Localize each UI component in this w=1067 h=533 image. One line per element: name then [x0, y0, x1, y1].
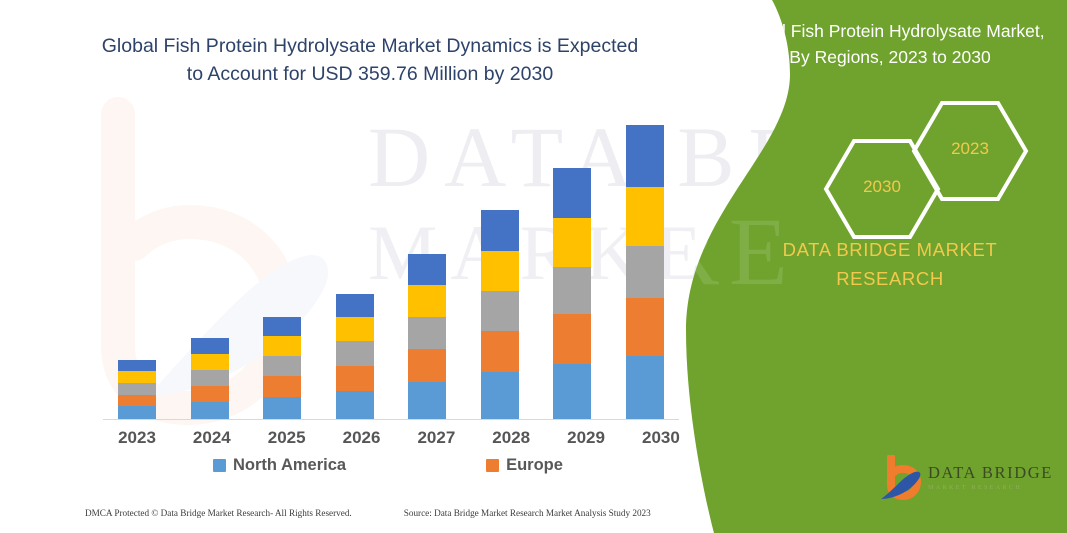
footer-source: Source: Data Bridge Market Research Mark…: [404, 508, 651, 518]
bar-segment: [481, 331, 519, 373]
bar-segment: [408, 254, 446, 285]
hexagon-2030-label: 2030: [820, 177, 944, 197]
legend-label: North America: [233, 456, 346, 475]
databridge-logo-subtitle: MARKET RESEARCH: [928, 484, 1022, 491]
bar-segment: [263, 317, 301, 336]
bar-segment: [118, 406, 156, 419]
bar-column: [538, 110, 606, 419]
bar-segment: [408, 349, 446, 382]
bar-segment: [263, 397, 301, 419]
bar-segment: [336, 366, 374, 392]
bar-segment: [408, 317, 446, 349]
databridge-logo-icon: [878, 455, 924, 503]
bar-segment: [191, 386, 229, 402]
page-title: Global Fish Protein Hydrolysate Market D…: [60, 32, 680, 89]
chart-x-axis-labels: 20232024202520262027202820292030: [103, 428, 695, 448]
stacked-bar: [191, 338, 229, 419]
stacked-bar: [626, 125, 664, 419]
footer-copyright: DMCA Protected © Data Bridge Market Rese…: [85, 508, 352, 518]
green-panel-brand: DATA BRIDGE MARKET RESEARCH: [722, 236, 1058, 293]
bar-segment: [191, 338, 229, 354]
bar-segment: [118, 360, 156, 371]
bar-segment: [626, 356, 664, 419]
x-axis-label: 2030: [627, 428, 695, 448]
stacked-bar: [481, 210, 519, 419]
x-axis-label: 2025: [253, 428, 321, 448]
green-side-panel: RE Global Fish Protein Hydrolysate Marke…: [660, 0, 1067, 533]
bar-column: [176, 110, 244, 419]
chart-bars-container: [103, 110, 679, 419]
chart-x-axis-line: [103, 419, 679, 420]
x-axis-label: 2029: [552, 428, 620, 448]
bar-segment: [408, 285, 446, 317]
bar-column: [393, 110, 461, 419]
databridge-logo: DATA BRIDGE MARKET RESEARCH: [878, 455, 1058, 511]
page-title-line1: Global Fish Protein Hydrolysate Market D…: [60, 32, 680, 60]
footer: DMCA Protected © Data Bridge Market Rese…: [85, 508, 705, 518]
bar-segment: [118, 371, 156, 383]
bar-segment: [481, 291, 519, 330]
bar-segment: [263, 376, 301, 396]
bar-segment: [553, 168, 591, 218]
bar-segment: [191, 354, 229, 370]
bar-segment: [336, 391, 374, 419]
bar-segment: [481, 251, 519, 291]
stacked-bar: [553, 168, 591, 419]
bar-segment: [118, 395, 156, 407]
green-panel-brand-line2: RESEARCH: [722, 265, 1058, 294]
bar-segment: [408, 382, 446, 419]
infographic-root: DATA BRIDGE MARKET RESEARCH Global Fish …: [0, 0, 1067, 533]
bar-segment: [336, 317, 374, 342]
green-panel-title-line1: Global Fish Protein Hydrolysate Market,: [722, 18, 1058, 44]
bar-segment: [553, 267, 591, 314]
bar-segment: [263, 356, 301, 376]
bar-segment: [263, 336, 301, 356]
bar-segment: [481, 210, 519, 250]
bar-segment: [626, 246, 664, 297]
x-axis-label: 2026: [328, 428, 396, 448]
bar-segment: [336, 294, 374, 316]
stacked-bar: [408, 254, 446, 419]
bar-segment: [336, 341, 374, 366]
stacked-bar: [263, 317, 301, 419]
bar-segment: [553, 218, 591, 267]
bar-column: [321, 110, 389, 419]
bar-column: [248, 110, 316, 419]
bar-segment: [191, 370, 229, 386]
stacked-bar: [118, 360, 156, 419]
x-axis-label: 2028: [477, 428, 545, 448]
legend-item[interactable]: Europe: [486, 456, 563, 475]
green-panel-title: Global Fish Protein Hydrolysate Market, …: [722, 18, 1058, 71]
green-panel-title-line2: By Regions, 2023 to 2030: [722, 44, 1058, 70]
legend-item[interactable]: North America: [213, 456, 346, 475]
bar-segment: [626, 125, 664, 187]
bar-segment: [481, 372, 519, 419]
bar-column: [103, 110, 171, 419]
legend-label: Europe: [506, 456, 563, 475]
stacked-bar-chart: [75, 110, 695, 420]
bar-segment: [626, 187, 664, 247]
chart-legend: North AmericaEurope: [103, 456, 695, 475]
x-axis-label: 2024: [178, 428, 246, 448]
bar-column: [466, 110, 534, 419]
bar-column: [611, 110, 679, 419]
bar-segment: [553, 314, 591, 364]
green-panel-brand-line1: DATA BRIDGE MARKET: [722, 236, 1058, 265]
bar-segment: [626, 298, 664, 357]
stacked-bar: [336, 294, 374, 419]
bar-segment: [191, 402, 229, 419]
hexagon-group: 2023 2030: [820, 95, 1060, 215]
legend-swatch-icon: [486, 459, 499, 472]
databridge-logo-title: DATA BRIDGE: [928, 463, 1053, 483]
legend-swatch-icon: [213, 459, 226, 472]
bar-segment: [553, 364, 591, 419]
x-axis-label: 2027: [402, 428, 470, 448]
bar-segment: [118, 383, 156, 395]
x-axis-label: 2023: [103, 428, 171, 448]
page-title-line2: to Account for USD 359.76 Million by 203…: [60, 60, 680, 88]
